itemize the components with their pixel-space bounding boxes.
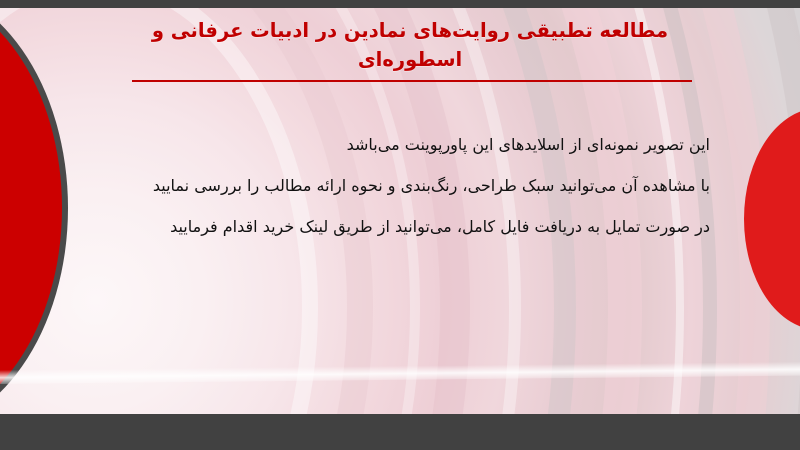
body-line-1: این تصویر نمونه‌ای از اسلایدهای این پاور… bbox=[90, 124, 710, 165]
bottom-frame-band bbox=[0, 414, 800, 450]
bottom-highlight-sliver bbox=[0, 362, 800, 384]
top-frame-band bbox=[0, 0, 800, 8]
body-line-3: در صورت تمایل به دریافت فایل کامل، می‌تو… bbox=[90, 206, 710, 247]
slide-title-line-2: اسطوره‌ای bbox=[100, 45, 720, 74]
slide-title: مطالعه تطبیقی روایت‌های نمادین در ادبیات… bbox=[100, 16, 720, 74]
slide-content-plate: مطالعه تطبیقی روایت‌های نمادین در ادبیات… bbox=[0, 8, 800, 414]
slide-title-line-1: مطالعه تطبیقی روایت‌های نمادین در ادبیات… bbox=[100, 16, 720, 45]
right-red-circle-decoration bbox=[744, 108, 800, 330]
title-underline-rule bbox=[132, 80, 692, 82]
left-red-oval-decoration bbox=[0, 8, 62, 414]
slide-body-text: این تصویر نمونه‌ای از اسلایدهای این پاور… bbox=[90, 124, 710, 247]
body-line-2: با مشاهده آن می‌توانید سبک طراحی، رنگ‌بن… bbox=[90, 165, 710, 206]
slide-canvas: مطالعه تطبیقی روایت‌های نمادین در ادبیات… bbox=[0, 0, 800, 450]
